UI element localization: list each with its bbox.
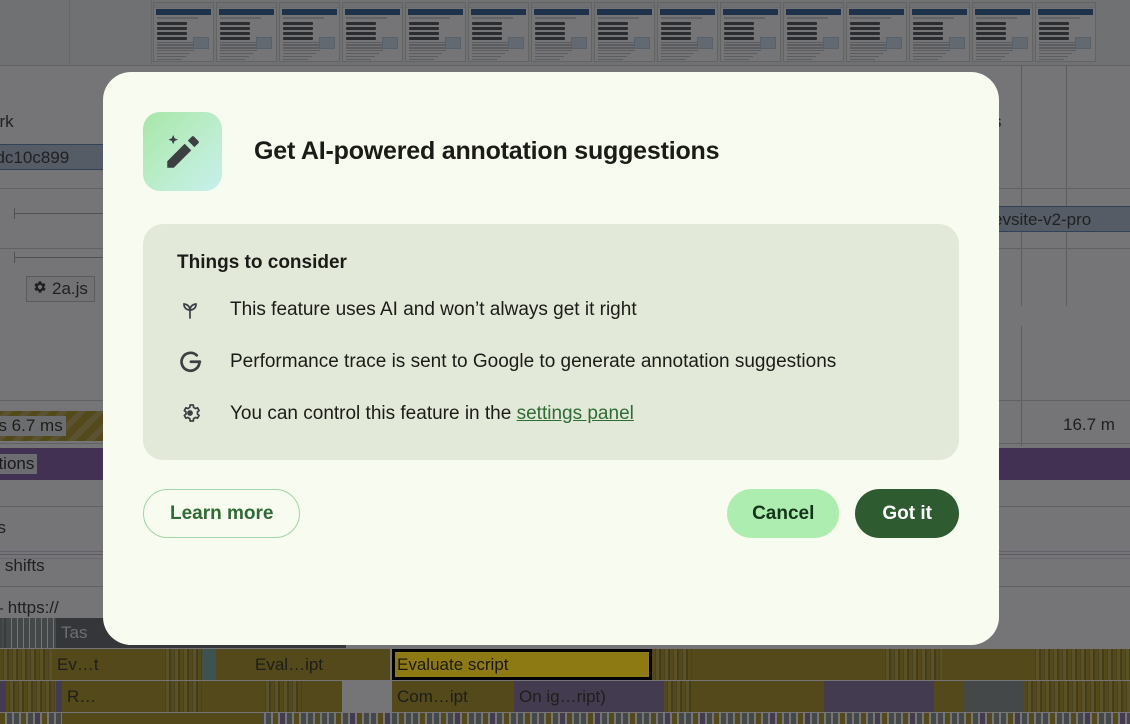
sprout-icon [177, 296, 203, 322]
screen: ork s 5dc10c899 evsite-v2-pro [0, 0, 1130, 724]
list-item: This feature uses AI and won’t always ge… [177, 294, 925, 326]
selected-evaluate-script[interactable]: Evaluate script [392, 649, 652, 680]
dialog-header: Get AI-powered annotation suggestions [103, 72, 999, 191]
ai-sparkle-pencil-icon [143, 112, 222, 191]
list-item-text: You can control this feature in the sett… [230, 398, 634, 430]
ai-annotations-consent-dialog: Get AI-powered annotation suggestions Th… [103, 72, 999, 645]
list-item-text: This feature uses AI and won’t always ge… [230, 294, 637, 326]
list-item-text-prefix: You can control this feature in the [230, 403, 517, 424]
settings-panel-link[interactable]: settings panel [517, 403, 634, 424]
cancel-button[interactable]: Cancel [727, 489, 839, 538]
card-heading: Things to consider [177, 252, 925, 274]
gear-icon [177, 400, 203, 426]
list-item: Performance trace is sent to Google to g… [177, 346, 925, 378]
got-it-button[interactable]: Got it [855, 489, 959, 538]
things-to-consider-card: Things to consider This feature uses AI … [143, 224, 959, 460]
list-item: You can control this feature in the sett… [177, 398, 925, 430]
learn-more-button[interactable]: Learn more [143, 489, 300, 538]
dialog-actions: Learn more Cancel Got it [103, 460, 999, 538]
google-g-icon [177, 348, 203, 374]
list-item-text: Performance trace is sent to Google to g… [230, 346, 836, 378]
dialog-title: Get AI-powered annotation suggestions [254, 137, 719, 166]
